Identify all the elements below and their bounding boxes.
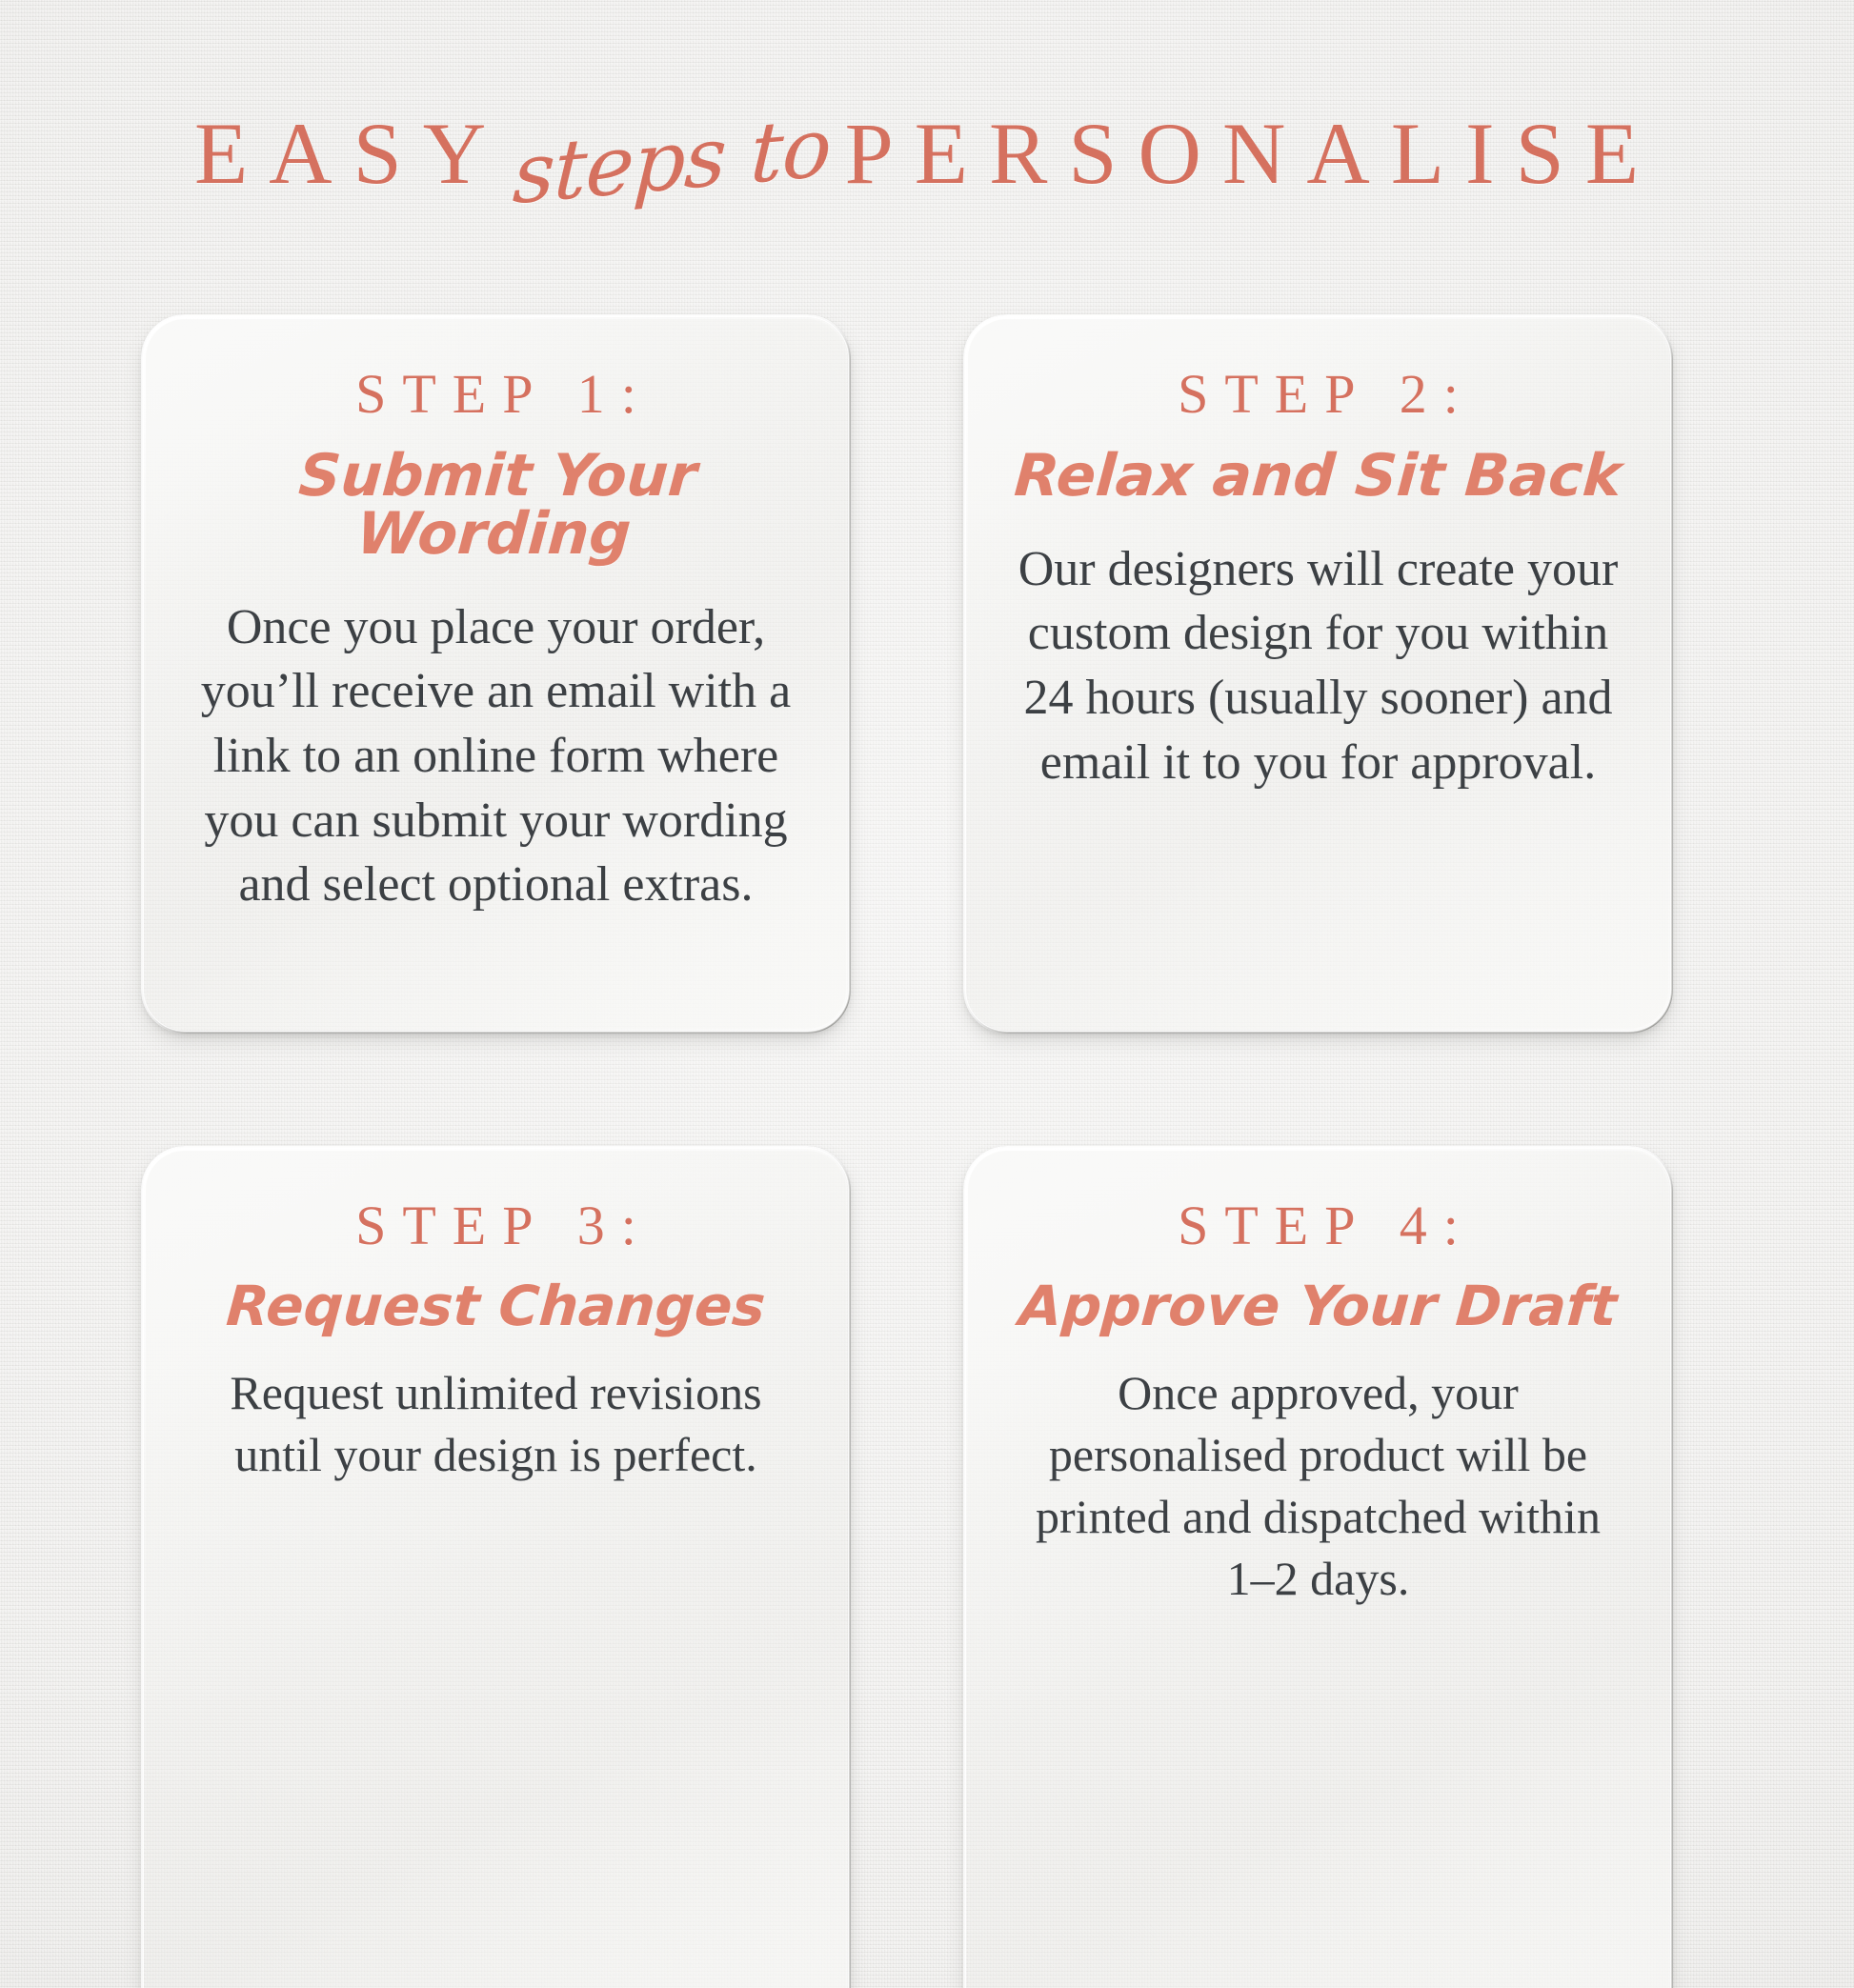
step-card-3-content: STEP 3: Request Changes Request unlimite… [183,1197,809,1486]
step-2-label: STEP 2: [1005,366,1631,424]
infographic-page: EASYsteps toPERSONALISE STEP 1: Submit Y… [0,0,1854,1988]
step-1-label: STEP 1: [183,366,809,424]
step-4-subtitle: Approve Your Draft [1003,1278,1633,1334]
steps-grid: STEP 1: Submit Your Wording Once you pla… [141,314,1713,1988]
step-3-body-text: Request unlimited revisions until your d… [183,1362,809,1486]
step-2-subtitle: Relax and Sit Back [1003,447,1633,505]
step-card-1: STEP 1: Submit Your Wording Once you pla… [141,314,851,1034]
step-4-body-text: Once approved, your personalised product… [1005,1362,1631,1610]
step-4-label: STEP 4: [1005,1197,1631,1255]
step-1-subtitle: Submit Your Wording [179,447,814,563]
page-title: EASYsteps toPERSONALISE [0,103,1854,204]
step-3-label: STEP 3: [183,1197,809,1255]
page-title-part-two: PERSONALISE [845,105,1660,202]
page-title-script-phrase: steps to [505,98,846,224]
step-3-subtitle: Request Changes [181,1278,811,1334]
step-card-2: STEP 2: Relax and Sit Back Our designers… [963,314,1673,1034]
step-card-3: STEP 3: Request Changes Request unlimite… [141,1146,851,1988]
step-1-body-text: Once you place your order, you’ll receiv… [183,595,809,917]
step-card-2-content: STEP 2: Relax and Sit Back Our designers… [1005,366,1631,794]
step-card-4-content: STEP 4: Approve Your Draft Once approved… [1005,1197,1631,1610]
step-card-1-content: STEP 1: Submit Your Wording Once you pla… [183,366,809,917]
step-2-body-text: Our designers will create your custom de… [1005,537,1631,794]
step-card-4: STEP 4: Approve Your Draft Once approved… [963,1146,1673,1988]
page-title-part-one: EASY [194,105,507,202]
